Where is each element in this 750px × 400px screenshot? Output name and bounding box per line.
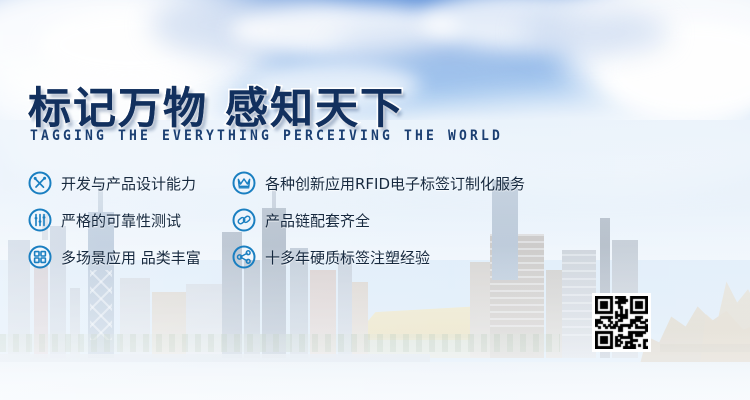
qr-code[interactable] xyxy=(592,293,651,352)
link-icon xyxy=(232,208,256,232)
waterfront xyxy=(0,362,750,400)
feature-item-rfid-custom: 各种创新应用RFID电子标签订制化服务 xyxy=(232,171,525,195)
crown-icon xyxy=(232,171,256,195)
grid-icon xyxy=(28,245,52,269)
feature-label: 严格的可靠性测试 xyxy=(61,210,181,231)
page-title: 标记万物 感知天下 xyxy=(28,74,405,136)
feature-item-multi-scenario: 多场景应用 品类丰富 xyxy=(28,245,201,269)
feature-item-supply-chain: 产品链配套齐全 xyxy=(232,208,370,232)
feature-item-dev-design: 开发与产品设计能力 xyxy=(28,171,196,195)
page-subtitle: TAGGING THE EVERYTHING PERCEIVING THE WO… xyxy=(30,128,503,144)
tools-icon xyxy=(28,171,52,195)
feature-item-reliability-test: 严格的可靠性测试 xyxy=(28,208,181,232)
share-icon xyxy=(232,245,256,269)
feature-item-molding-experience: 十多年硬质标签注塑经验 xyxy=(232,245,430,269)
feature-label: 开发与产品设计能力 xyxy=(61,173,196,194)
feature-label: 多场景应用 品类丰富 xyxy=(61,247,201,268)
promo-banner: 标记万物 感知天下 标记万物 感知天下 TAGGING THE EVERYTHI… xyxy=(0,0,750,400)
sliders-icon xyxy=(28,208,52,232)
feature-label: 各种创新应用RFID电子标签订制化服务 xyxy=(265,173,525,194)
feature-label: 产品链配套齐全 xyxy=(265,210,370,231)
feature-label: 十多年硬质标签注塑经验 xyxy=(265,247,430,268)
